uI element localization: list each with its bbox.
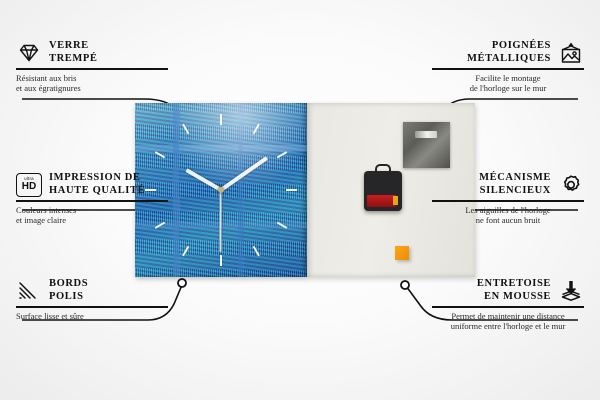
gear-icon: [558, 173, 584, 197]
callout-title: VERRE TREMPÉ: [49, 40, 98, 65]
dial-tick: [220, 190, 222, 266]
minute-hand: [220, 156, 268, 191]
metal-hanger-plate: [403, 122, 450, 168]
callout-poignees-metalliques: POIGNÉES MÉTALLIQUES Facilite le montage…: [432, 40, 584, 94]
callout-body: Résistant aux bris et aux égratignures: [16, 73, 168, 94]
callout-entretoise-en-mousse: ENTRETOISE EN MOUSSE Permet de maintenir…: [432, 278, 584, 332]
callout-title: BORDS POLIS: [49, 278, 88, 303]
foam-spacer: [395, 246, 409, 260]
dial-tick: [182, 124, 222, 191]
dial-tick: [220, 114, 222, 190]
hour-hand: [185, 168, 222, 191]
callout-header: BORDS POLIS: [16, 278, 168, 303]
callout-body-line1: Facilite le montage: [432, 73, 584, 84]
callout-title-line2: SILENCIEUX: [479, 185, 551, 198]
callout-verre-trempe: VERRE TREMPÉ Résistant aux bris et aux é…: [16, 40, 168, 94]
callout-mecanisme-silencieux: MÉCANISME SILENCIEUX Les aiguilles de l'…: [432, 172, 584, 226]
callout-impression-haute-qualite: ultra HD IMPRESSION DE HAUTE QUALITÉ Cou…: [16, 172, 168, 226]
callout-rule: [16, 306, 168, 308]
callout-title: POIGNÉES MÉTALLIQUES: [467, 40, 551, 65]
callout-header: ultra HD IMPRESSION DE HAUTE QUALITÉ: [16, 172, 168, 197]
quartz-movement-box: [364, 171, 402, 211]
callout-body-line2: uniforme entre l'horloge et le mur: [432, 321, 584, 332]
callout-title-line1: ENTRETOISE: [477, 278, 551, 291]
callout-body-line2: et aux égratignures: [16, 83, 168, 94]
callout-body-line2: et image claire: [16, 215, 168, 226]
callout-body: Les aiguilles de l'horloge ne font aucun…: [432, 205, 584, 226]
polished-edge-icon: [16, 279, 42, 303]
callout-header: POIGNÉES MÉTALLIQUES: [432, 40, 584, 65]
second-hand: [220, 190, 222, 252]
callout-title-line1: POIGNÉES: [467, 40, 551, 53]
callout-body: Couleurs intenses et image claire: [16, 205, 168, 226]
callout-rule: [432, 200, 584, 202]
dial-tick: [221, 189, 297, 191]
callout-rule: [432, 68, 584, 70]
callout-body: Surface lisse et sûre: [16, 311, 168, 322]
callout-body-line1: Permet de maintenir une distance: [432, 311, 584, 322]
callout-body-line1: Résistant aux bris: [16, 73, 168, 84]
picture-frame-hook-icon: [558, 41, 584, 65]
callout-title: IMPRESSION DE HAUTE QUALITÉ: [49, 172, 145, 197]
connector-dot-bords: [178, 279, 186, 287]
callout-body: Facilite le montage de l'horloge sur le …: [432, 73, 584, 94]
callout-title-line1: BORDS: [49, 278, 88, 291]
callout-title: MÉCANISME SILENCIEUX: [479, 172, 551, 197]
callout-title-line1: MÉCANISME: [479, 172, 551, 185]
ultra-hd-icon: ultra HD: [16, 173, 42, 197]
callout-body: Permet de maintenir une distance uniform…: [432, 311, 584, 332]
movement-bail: [375, 164, 391, 174]
callout-title-line2: EN MOUSSE: [477, 291, 551, 304]
dial-tick: [182, 190, 222, 257]
foam-spacer-press-icon: [558, 279, 584, 303]
dial-tick: [221, 151, 288, 191]
hands-center-pin: [218, 187, 224, 193]
callout-title-line1: IMPRESSION DE: [49, 172, 145, 185]
callout-title: ENTRETOISE EN MOUSSE: [477, 278, 551, 303]
callout-title-line2: HAUTE QUALITÉ: [49, 185, 145, 198]
diamond-icon: [16, 41, 42, 65]
callout-header: MÉCANISME SILENCIEUX: [432, 172, 584, 197]
callout-header: VERRE TREMPÉ: [16, 40, 168, 65]
dial-tick: [221, 189, 288, 229]
callout-body-line1: Surface lisse et sûre: [16, 311, 168, 322]
callout-rule: [16, 200, 168, 202]
callout-body-line2: de l'horloge sur le mur: [432, 83, 584, 94]
callout-body-line2: ne font aucun bruit: [432, 215, 584, 226]
callout-bords-polis: BORDS POLIS Surface lisse et sûre: [16, 278, 168, 321]
battery: [367, 195, 396, 207]
callout-title-line2: TREMPÉ: [49, 53, 98, 66]
callout-rule: [16, 68, 168, 70]
connector-dot-entretoise: [401, 281, 409, 289]
product-image: [135, 103, 475, 277]
callout-header: ENTRETOISE EN MOUSSE: [432, 278, 584, 303]
infographic-stage: VERRE TREMPÉ Résistant aux bris et aux é…: [0, 0, 600, 400]
dial-tick: [220, 124, 260, 191]
ultra-hd-icon-main-text: HD: [22, 182, 36, 192]
callout-title-line2: MÉTALLIQUES: [467, 53, 551, 66]
callout-body-line1: Couleurs intenses: [16, 205, 168, 216]
callout-title-line1: VERRE: [49, 40, 98, 53]
dial-tick: [220, 190, 260, 257]
callout-title-line2: POLIS: [49, 291, 88, 304]
callout-body-line1: Les aiguilles de l'horloge: [432, 205, 584, 216]
callout-rule: [432, 306, 584, 308]
